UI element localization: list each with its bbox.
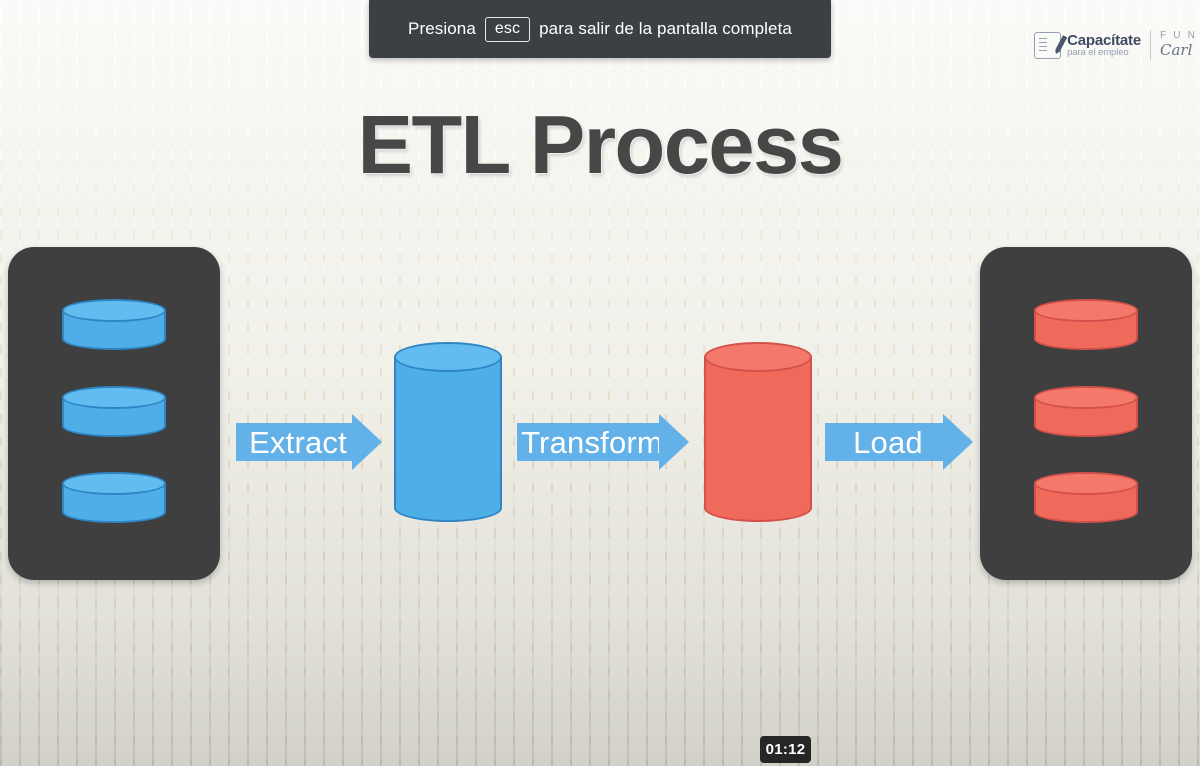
database-disk-icon bbox=[62, 299, 166, 355]
database-disk-icon bbox=[1034, 299, 1138, 355]
video-timer-badge[interactable]: 01:12 bbox=[760, 736, 811, 763]
cylinder-top bbox=[394, 342, 502, 372]
cylinder-top bbox=[704, 342, 812, 372]
transform-arrow-label: Transform bbox=[517, 423, 659, 461]
target-database-panel bbox=[980, 247, 1192, 580]
disk-top bbox=[62, 386, 166, 409]
capacitate-logo-line2: para el empleo bbox=[1067, 48, 1141, 58]
disk-top bbox=[62, 472, 166, 495]
database-disk-icon bbox=[1034, 386, 1138, 442]
database-disk-icon bbox=[62, 472, 166, 528]
arrow-head-icon bbox=[659, 414, 689, 470]
source-database-panel bbox=[8, 247, 220, 580]
arrow-head-icon bbox=[943, 414, 973, 470]
load-arrow: Load bbox=[825, 414, 973, 470]
extract-arrow: Extract bbox=[236, 414, 382, 470]
foundation-logo: F U N D Carl bbox=[1151, 31, 1200, 58]
capacitate-logo: Capacítate para el empleo bbox=[1034, 32, 1150, 59]
capacitate-logo-text: Capacítate para el empleo bbox=[1067, 33, 1141, 58]
staging-cylinder bbox=[394, 342, 502, 522]
banner-prefix-text: Presiona bbox=[408, 19, 476, 39]
foundation-logo-line2: Carl bbox=[1160, 43, 1200, 59]
banner-suffix-text: para salir de la pantalla completa bbox=[539, 19, 792, 39]
logo-bar: Capacítate para el empleo F U N D Carl bbox=[1034, 30, 1200, 60]
page-title: ETL Process bbox=[0, 97, 1200, 193]
slide-stage: Presiona esc para salir de la pantalla c… bbox=[0, 0, 1200, 766]
disk-top bbox=[1034, 472, 1138, 495]
database-disk-icon bbox=[1034, 472, 1138, 528]
cylinder-body bbox=[394, 356, 502, 522]
notebook-pencil-icon bbox=[1034, 32, 1061, 59]
disk-top bbox=[1034, 386, 1138, 409]
transform-cylinder bbox=[704, 342, 812, 522]
esc-key-badge: esc bbox=[485, 17, 530, 42]
fullscreen-exit-banner: Presiona esc para salir de la pantalla c… bbox=[369, 0, 831, 58]
database-disk-icon bbox=[62, 386, 166, 442]
source-disk-stack bbox=[8, 247, 220, 580]
target-disk-stack bbox=[980, 247, 1192, 580]
cylinder-body bbox=[704, 356, 812, 522]
arrow-head-icon bbox=[352, 414, 382, 470]
extract-arrow-label: Extract bbox=[236, 423, 352, 461]
transform-arrow: Transform bbox=[517, 414, 689, 470]
capacitate-logo-line1: Capacítate bbox=[1067, 33, 1141, 48]
load-arrow-label: Load bbox=[825, 423, 943, 461]
